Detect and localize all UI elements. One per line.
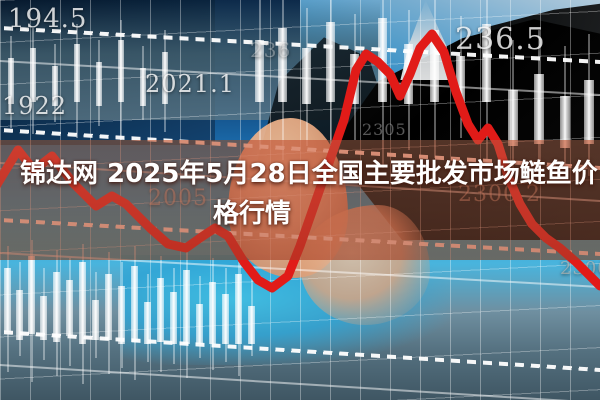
headline-block: 锦达网 2025年5月28日全国主要批发市场鲢鱼价 格行情 — [0, 154, 600, 234]
headline-line-2: 格行情 — [0, 194, 600, 234]
banner-image: 194.519222021.1236.520052300.22300236230… — [0, 0, 600, 400]
headline-line-1: 锦达网 2025年5月28日全国主要批发市场鲢鱼价 — [0, 154, 600, 194]
